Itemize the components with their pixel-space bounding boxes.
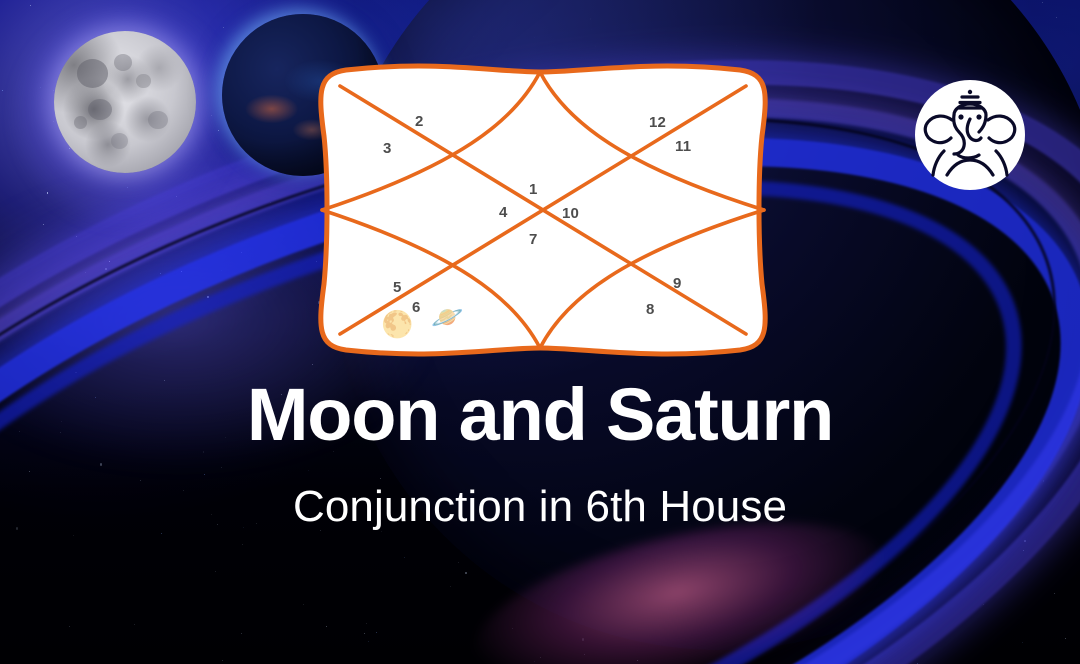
house-number-2: 2 xyxy=(415,114,424,129)
house-number-4: 4 xyxy=(499,205,508,220)
house-number-5: 5 xyxy=(393,280,402,295)
house-number-3: 3 xyxy=(383,141,392,156)
house-number-8: 8 xyxy=(646,302,655,317)
page-title: Moon and Saturn xyxy=(0,378,1080,452)
banner-image: 123456789101112 🌕🪐 Moon and Saturn Conju… xyxy=(0,0,1080,664)
house-number-11: 11 xyxy=(675,139,691,154)
house-number-12: 12 xyxy=(649,115,666,130)
house-number-1: 1 xyxy=(529,182,538,197)
house-number-7: 7 xyxy=(529,232,538,247)
full-moon-icon xyxy=(54,31,196,173)
house-number-10: 10 xyxy=(562,206,579,221)
page-subtitle: Conjunction in 6th House xyxy=(0,485,1080,529)
moon-glyph: 🌕 xyxy=(381,311,413,337)
house-number-9: 9 xyxy=(673,276,682,291)
saturn-glyph: 🪐 xyxy=(431,304,463,330)
ganesha-logo xyxy=(914,79,1026,191)
